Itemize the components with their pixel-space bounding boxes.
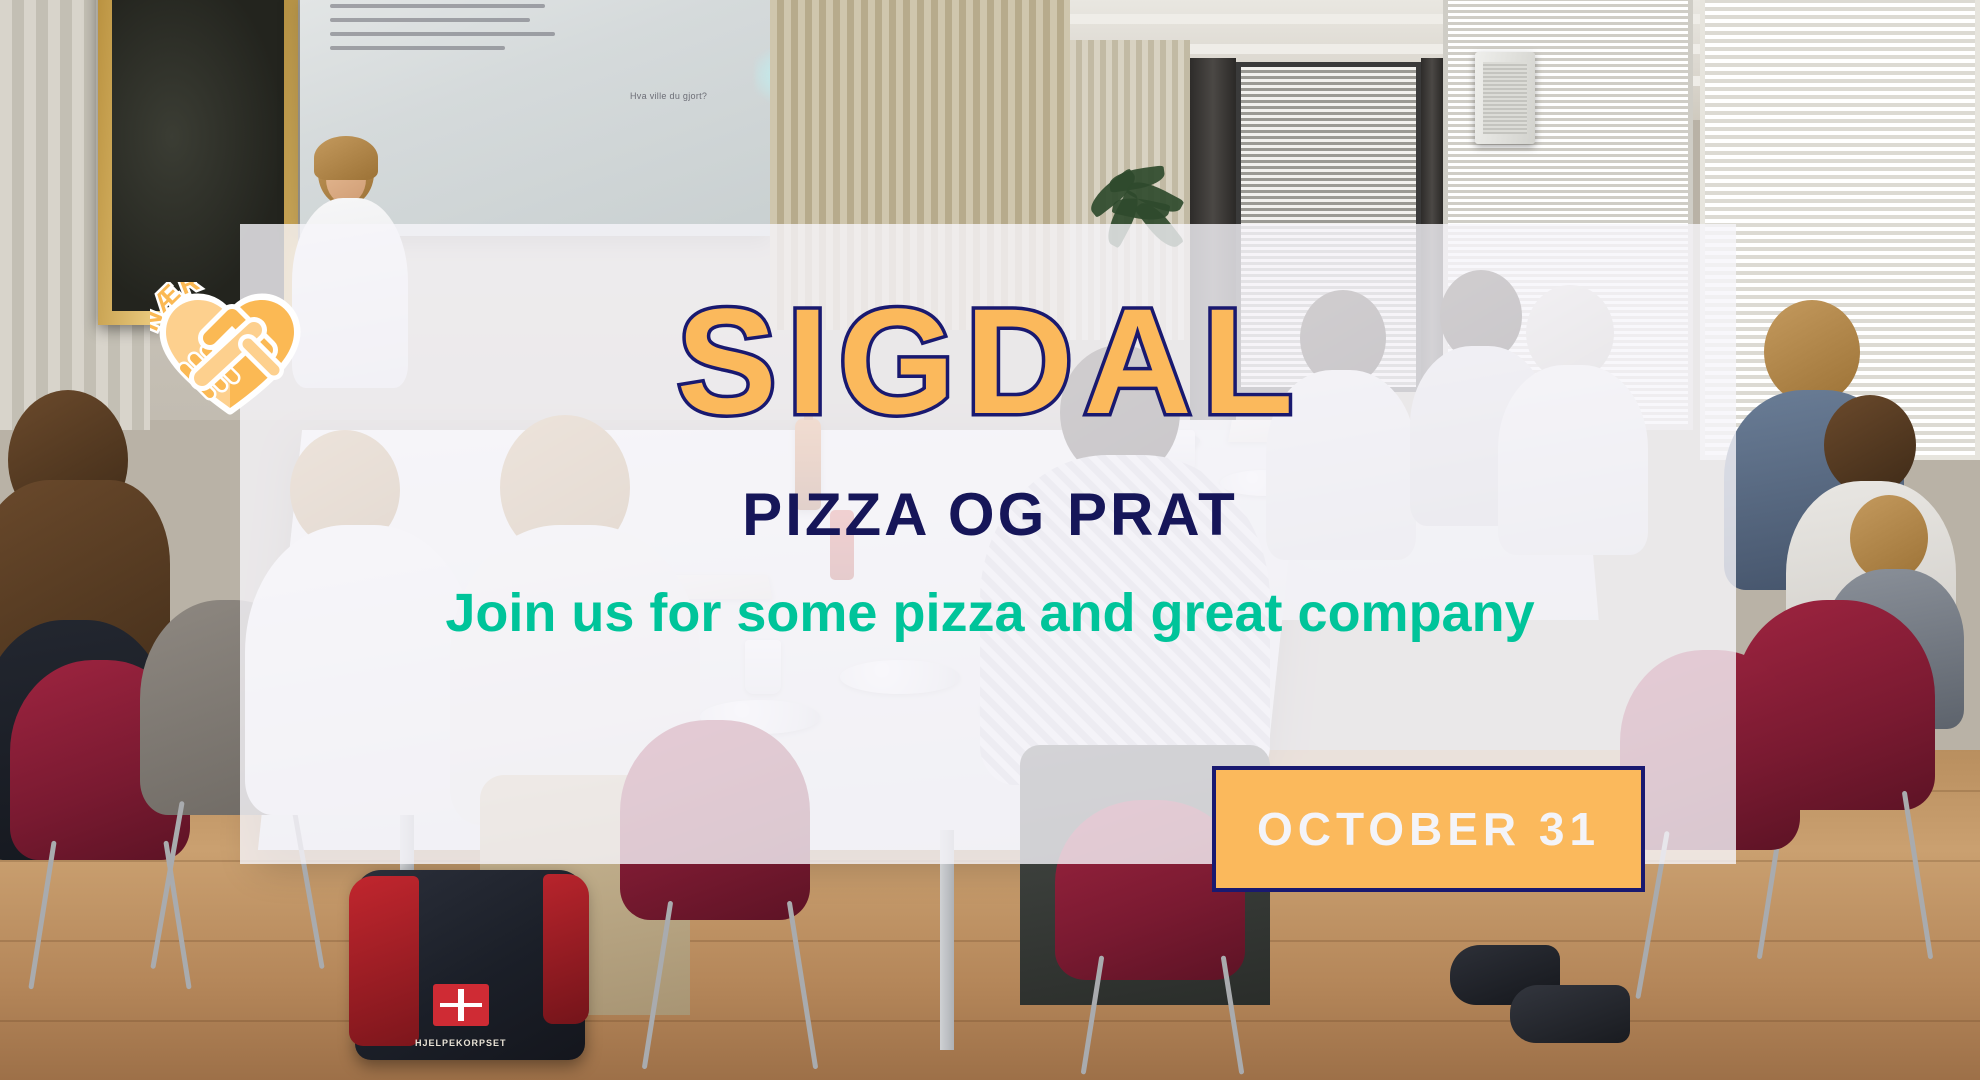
page-title: SIGDAL — [0, 286, 1980, 436]
slide-question: Hva ville du gjort? — [630, 91, 707, 101]
date-badge-label: OCTOBER 31 — [1257, 802, 1600, 856]
event-poster: Hva ville du gjort? — [0, 0, 1980, 1080]
date-badge: OCTOBER 31 — [1212, 766, 1645, 892]
shoe — [1510, 985, 1630, 1043]
page-tagline: Join us for some pizza and great company — [0, 582, 1980, 644]
wall-speaker — [1475, 52, 1535, 144]
backpack: HJELPEKORPSET — [355, 870, 585, 1060]
page-subtitle: PIZZA OG PRAT — [0, 480, 1980, 549]
